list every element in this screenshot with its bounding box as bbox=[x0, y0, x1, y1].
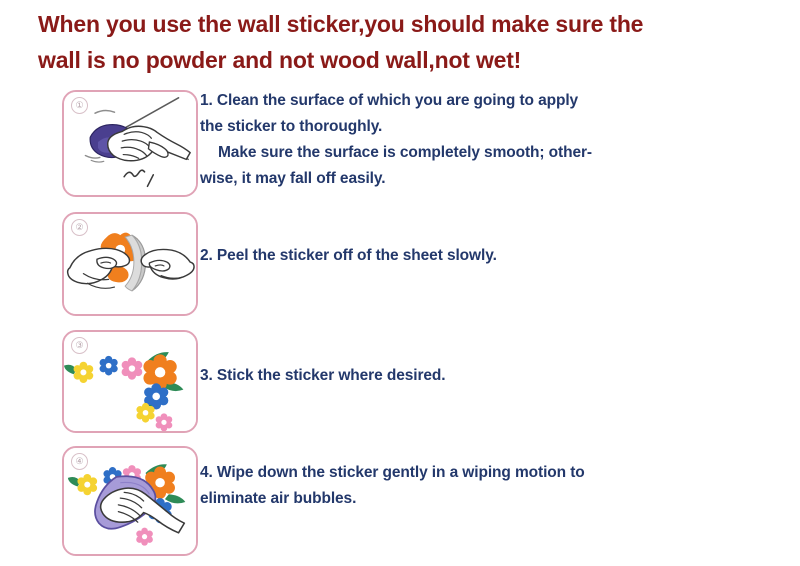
step-4-text: 4. Wipe down the sticker gently in a wip… bbox=[200, 460, 640, 512]
step-3-text: 3. Stick the sticker where desired. bbox=[200, 363, 640, 389]
step-2-line-1: 2. Peel the sticker off of the sheet slo… bbox=[200, 243, 640, 269]
illustration-panel-2: ② bbox=[62, 212, 198, 316]
step-2-text: 2. Peel the sticker off of the sheet slo… bbox=[200, 243, 640, 269]
step-4-line-1: 4. Wipe down the sticker gently in a wip… bbox=[200, 460, 640, 486]
heading-line-1: When you use the wall sticker,you should… bbox=[38, 6, 758, 42]
step-1-line-1: 1. Clean the surface of which you are go… bbox=[200, 88, 640, 114]
step-1-line-2: the sticker to thoroughly. bbox=[200, 114, 640, 140]
illustration-panel-1: ① bbox=[62, 90, 198, 197]
panel-number-badge-4: ④ bbox=[71, 453, 88, 470]
panel-number-badge-1: ① bbox=[71, 97, 88, 114]
step-3-line-1: 3. Stick the sticker where desired. bbox=[200, 363, 640, 389]
heading-line-2: wall is no powder and not wood wall,not … bbox=[38, 42, 758, 78]
step-1-line-3: Make sure the surface is completely smoo… bbox=[200, 140, 640, 166]
step-1-line-4: wise, it may fall off easily. bbox=[200, 166, 640, 192]
step-1-text: 1. Clean the surface of which you are go… bbox=[200, 88, 640, 192]
page-heading: When you use the wall sticker,you should… bbox=[38, 6, 758, 78]
panel-number-badge-3: ③ bbox=[71, 337, 88, 354]
step-4-line-2: eliminate air bubbles. bbox=[200, 486, 640, 512]
illustration-panel-4: ④ bbox=[62, 446, 198, 556]
panel-number-badge-2: ② bbox=[71, 219, 88, 236]
illustration-panel-3: ③ bbox=[62, 330, 198, 433]
